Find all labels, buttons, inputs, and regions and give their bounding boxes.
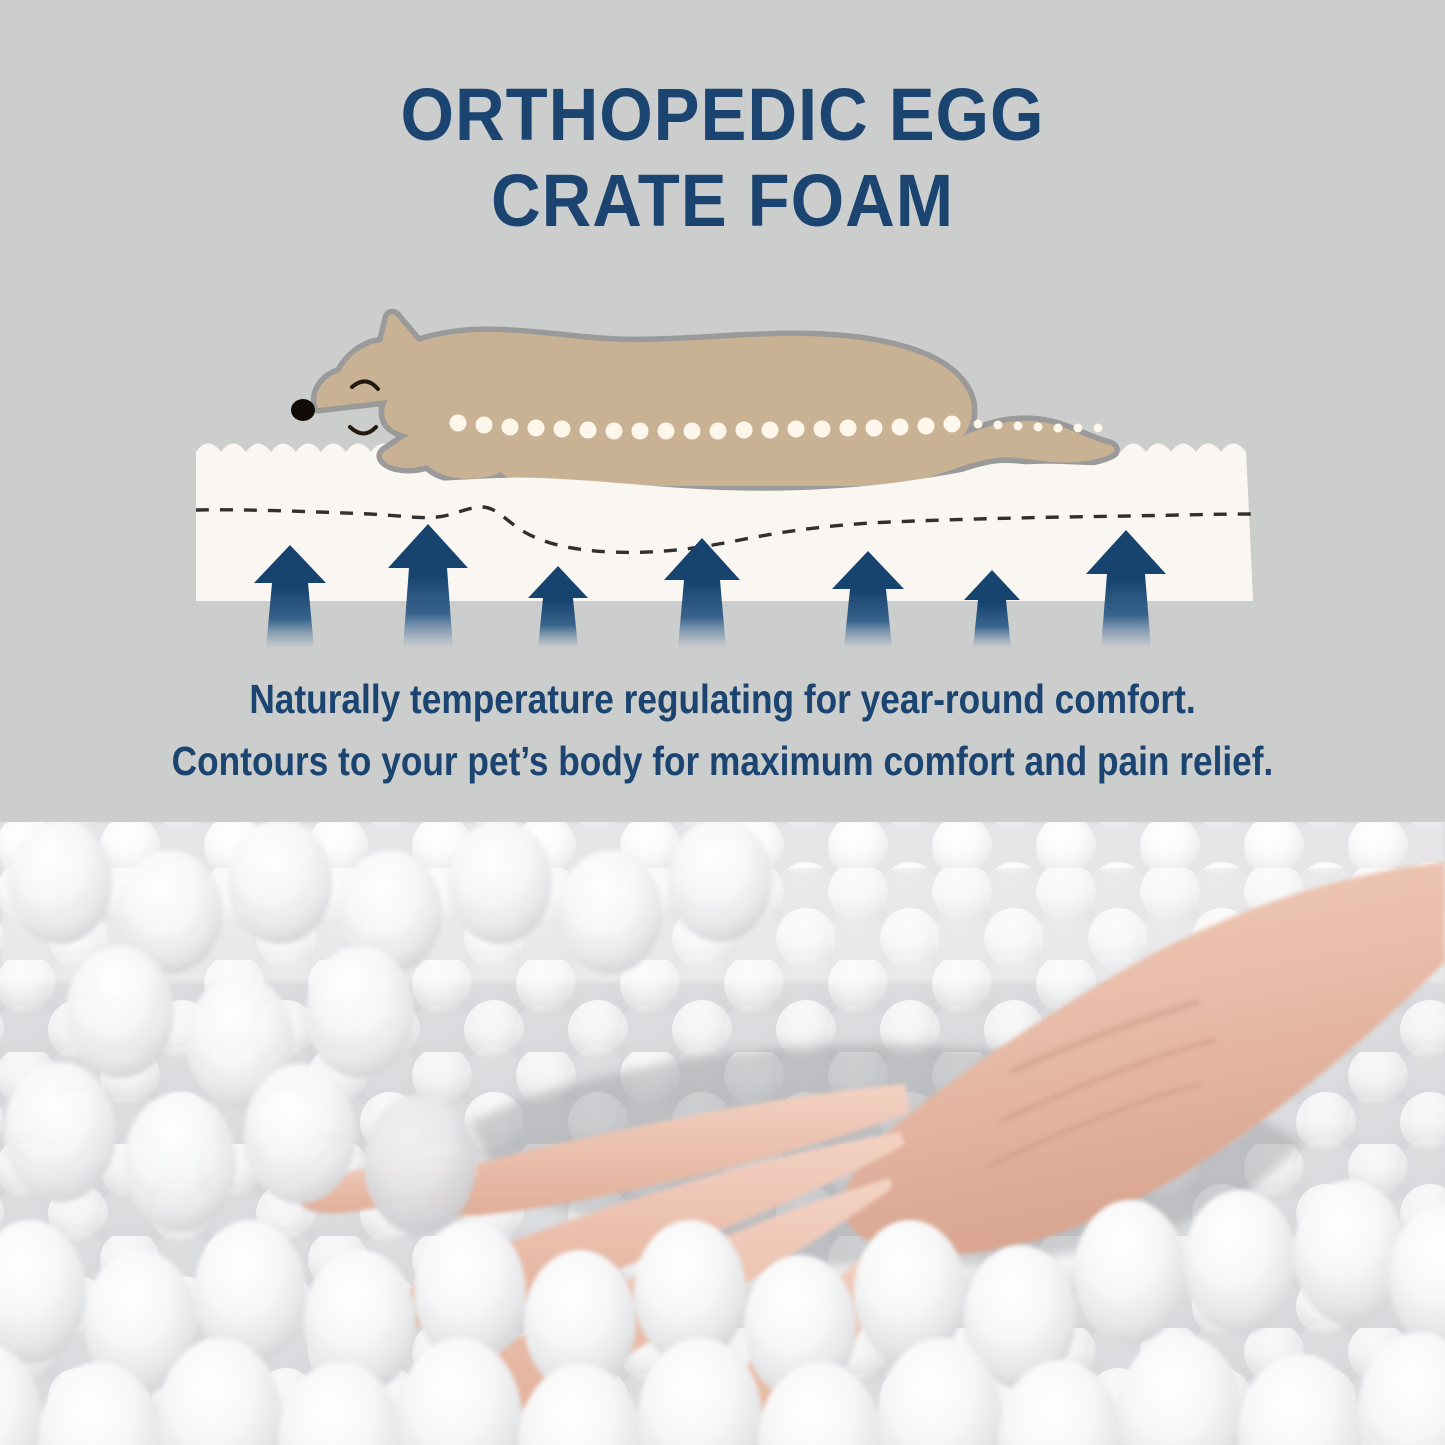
sleeping-dog (291, 314, 1114, 486)
caption-line-1: Naturally temperature regulating for yea… (101, 668, 1344, 730)
captions-block: Naturally temperature regulating for yea… (101, 668, 1344, 792)
dog-mouth (350, 427, 376, 434)
dog-nose (291, 399, 315, 421)
top-info-panel: ORTHOPEDIC EGG CRATE FOAM (0, 0, 1445, 822)
product-infographic: ORTHOPEDIC EGG CRATE FOAM (0, 0, 1445, 1445)
page-title: ORTHOPEDIC EGG CRATE FOAM (51, 72, 1395, 244)
caption-line-2: Contours to your pet’s body for maximum … (101, 730, 1344, 792)
hand-pressing-foam-photo (0, 822, 1445, 1445)
dog-on-foam-diagram (0, 290, 1445, 660)
